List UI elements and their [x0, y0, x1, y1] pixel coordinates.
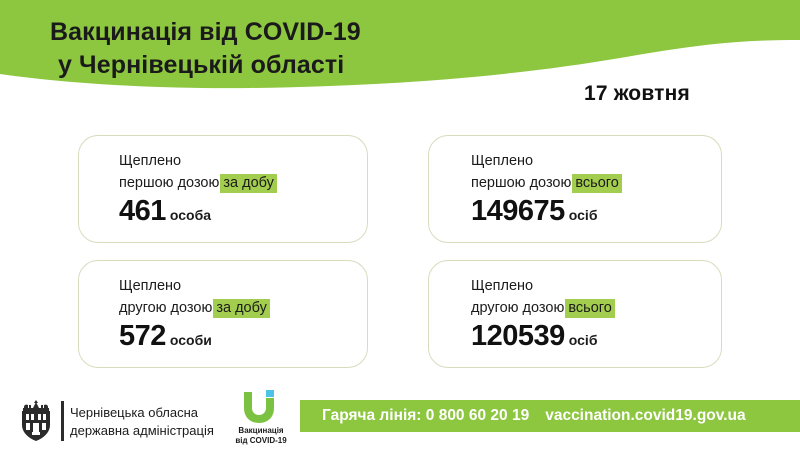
- stat-card-label: Щеплено першою дозоюза добу: [119, 150, 277, 194]
- hotline-phone: Гаряча лінія: 0 800 60 20 19: [322, 407, 529, 424]
- stat-label-line2: першою дозоювсього: [471, 172, 622, 194]
- stat-unit: осіб: [569, 207, 598, 223]
- stat-card-label: Щеплено другою дозоюза добу: [119, 275, 270, 319]
- stat-label-line2: першою дозоюза добу: [119, 172, 277, 194]
- stat-label-prefix: першою дозою: [119, 175, 219, 191]
- stat-unit: осіб: [569, 332, 598, 348]
- stat-value: 461: [119, 195, 166, 227]
- stat-label-line1: Щеплено: [471, 275, 615, 297]
- report-date: 17 жовтня: [584, 82, 690, 106]
- stat-card-first-dose-total: Щеплено першою дозоювсього 149675осіб: [428, 135, 722, 243]
- stat-label-highlight: за добу: [213, 299, 270, 318]
- stat-card-second-dose-daily: Щеплено другою дозоюза добу 572особи: [78, 260, 368, 368]
- page-title-line1: Вакцинація від COVID-19: [50, 16, 670, 49]
- stat-label-highlight: всього: [572, 174, 621, 193]
- stat-unit: особа: [170, 207, 211, 223]
- administration-line1: Чернівецька обласна: [70, 404, 214, 422]
- stat-card-second-dose-total: Щеплено другою дозоювсього 120539осіб: [428, 260, 722, 368]
- stat-label-prefix: другою дозою: [471, 300, 564, 316]
- stat-value: 120539: [471, 320, 565, 352]
- coat-of-arms-icon: [16, 399, 56, 443]
- hotline-content: Гаряча лінія: 0 800 60 20 19vaccination.…: [322, 400, 746, 432]
- stat-label-line1: Щеплено: [119, 275, 270, 297]
- vaccination-v-icon: [240, 390, 282, 426]
- stat-label-line2: другою дозоювсього: [471, 297, 615, 319]
- footer-divider: [61, 401, 64, 441]
- stat-label-prefix: другою дозою: [119, 300, 212, 316]
- vaccination-logo-line2: від COVID-19: [232, 436, 290, 446]
- stat-value: 572: [119, 320, 166, 352]
- page-title: Вакцинація від COVID-19 у Чернівецькій о…: [50, 16, 670, 82]
- administration-name: Чернівецька обласна державна адміністрац…: [70, 404, 214, 440]
- stat-card-first-dose-daily: Щеплено першою дозоюза добу 461особа: [78, 135, 368, 243]
- vaccination-logo: Вакцинація від COVID-19: [232, 390, 290, 450]
- infographic-page: Вакцинація від COVID-19 у Чернівецькій о…: [0, 0, 800, 462]
- stat-card-value-group: 149675осіб: [471, 195, 597, 228]
- vaccination-logo-line1: Вакцинація: [232, 426, 290, 436]
- administration-line2: державна адміністрація: [70, 422, 214, 440]
- stat-label-line2: другою дозоюза добу: [119, 297, 270, 319]
- stat-label-prefix: першою дозою: [471, 175, 571, 191]
- vaccination-logo-caption: Вакцинація від COVID-19: [232, 426, 290, 446]
- hotline-website-link[interactable]: vaccination.covid19.gov.ua: [545, 407, 745, 424]
- hotline-bar: Гаряча лінія: 0 800 60 20 19vaccination.…: [300, 400, 800, 432]
- stat-label-highlight: всього: [565, 299, 614, 318]
- stat-unit: особи: [170, 332, 212, 348]
- stat-value: 149675: [471, 195, 565, 227]
- stat-label-line1: Щеплено: [119, 150, 277, 172]
- stat-card-label: Щеплено другою дозоювсього: [471, 275, 615, 319]
- stat-card-value-group: 461особа: [119, 195, 211, 228]
- stat-card-value-group: 572особи: [119, 320, 212, 353]
- stat-label-line1: Щеплено: [471, 150, 622, 172]
- page-title-line2: у Чернівецькій області: [50, 49, 670, 82]
- stat-label-highlight: за добу: [220, 174, 277, 193]
- stat-card-value-group: 120539осіб: [471, 320, 597, 353]
- stat-card-label: Щеплено першою дозоювсього: [471, 150, 622, 194]
